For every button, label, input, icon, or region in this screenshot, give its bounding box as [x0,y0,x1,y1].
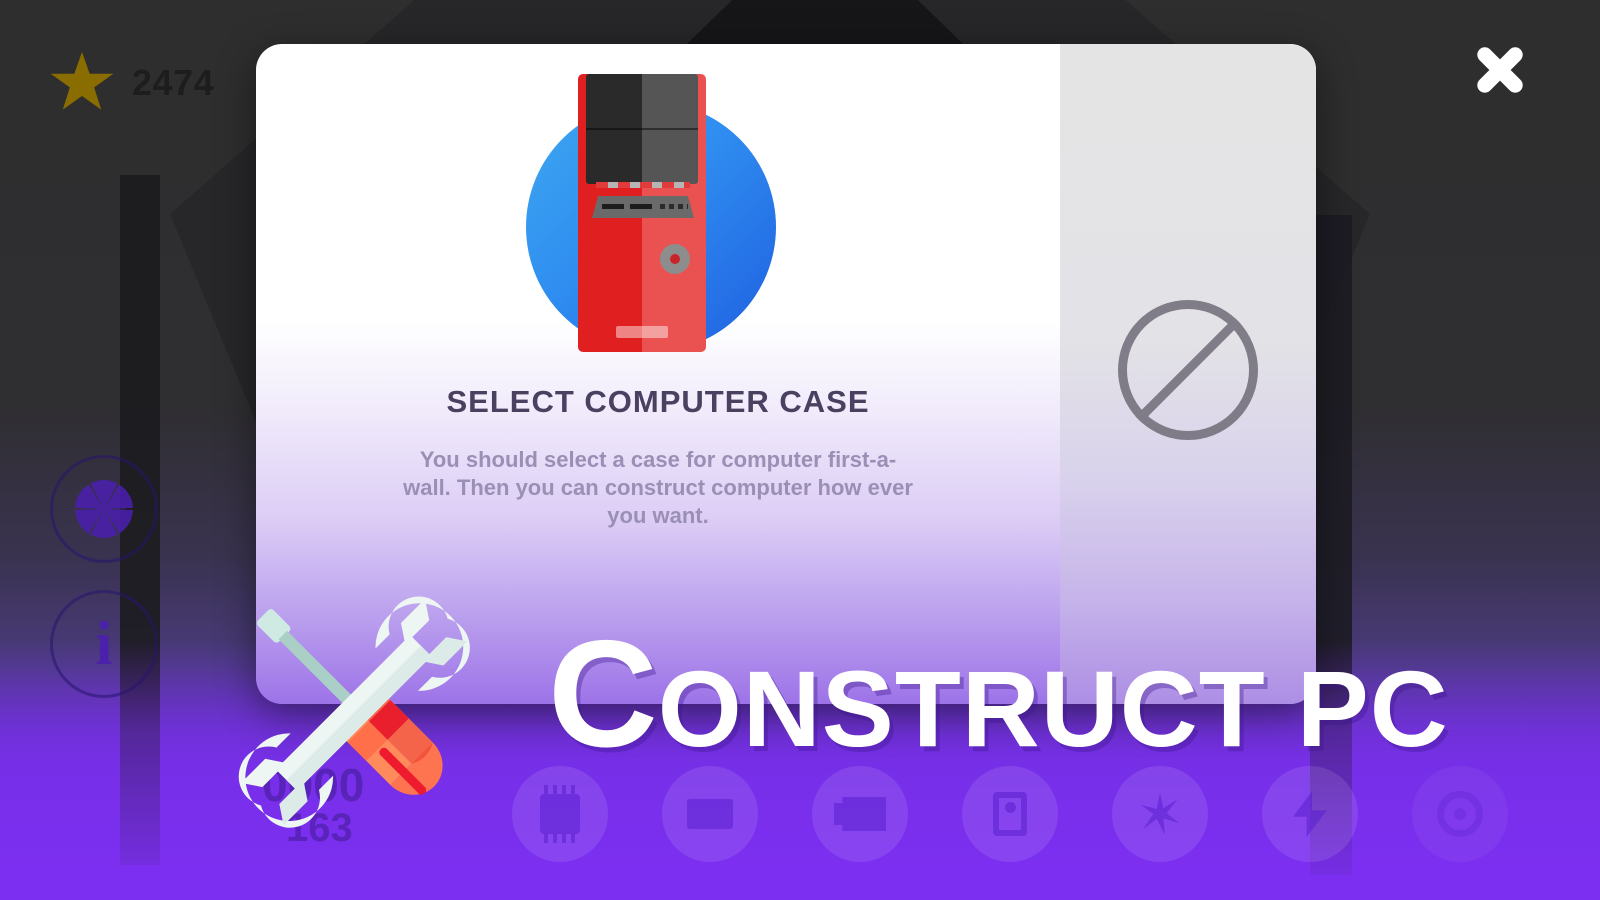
hdd-icon [993,792,1027,836]
brand-rest: ONSTRUCT PC [658,648,1449,769]
illustration-leds [596,182,690,188]
pc-tower-icon [508,62,808,362]
dock-item-cpu[interactable] [512,766,608,862]
power-icon [1293,791,1327,837]
illustration-dots [660,204,688,209]
dock-item-power-supply[interactable] [1262,766,1358,862]
dock-item-ram[interactable] [662,766,758,862]
page-title: SELECT COMPUTER CASE [446,384,869,420]
dock-item-gpu[interactable] [812,766,908,862]
dialog-description: You should select a case for computer fi… [398,446,918,530]
dock-item-optical-drive[interactable] [1412,766,1508,862]
dock-item-storage[interactable] [962,766,1058,862]
sidebar-item-info[interactable]: i [50,590,158,698]
dialog-side-panel [1060,44,1316,704]
dock-item-cooling[interactable] [1112,766,1208,862]
star-icon [50,52,114,114]
score-display: 2474 [50,52,214,114]
tools-illustration [205,560,505,860]
blocked-icon [1118,300,1258,440]
wrench-icon [205,560,505,860]
illustration-slot [630,204,652,209]
illustration-power-knob [660,244,690,274]
cpu-icon [540,794,580,834]
illustration-foot [616,326,668,338]
brand-initial: C [548,609,658,779]
sidebar-item-fan[interactable] [50,455,158,563]
score-value: 2474 [132,62,214,104]
gpu-icon [834,797,886,831]
fan-icon [75,480,133,538]
illustration-slot [602,204,624,209]
disc-icon [1437,791,1483,837]
illustration-seam [586,128,698,130]
ram-icon [687,799,733,829]
brand-title: CONSTRUCT PC [548,618,1449,770]
fan-icon [1139,793,1181,835]
info-icon: i [95,613,112,675]
illustration-tower [578,74,706,352]
close-button[interactable] [1468,38,1532,102]
